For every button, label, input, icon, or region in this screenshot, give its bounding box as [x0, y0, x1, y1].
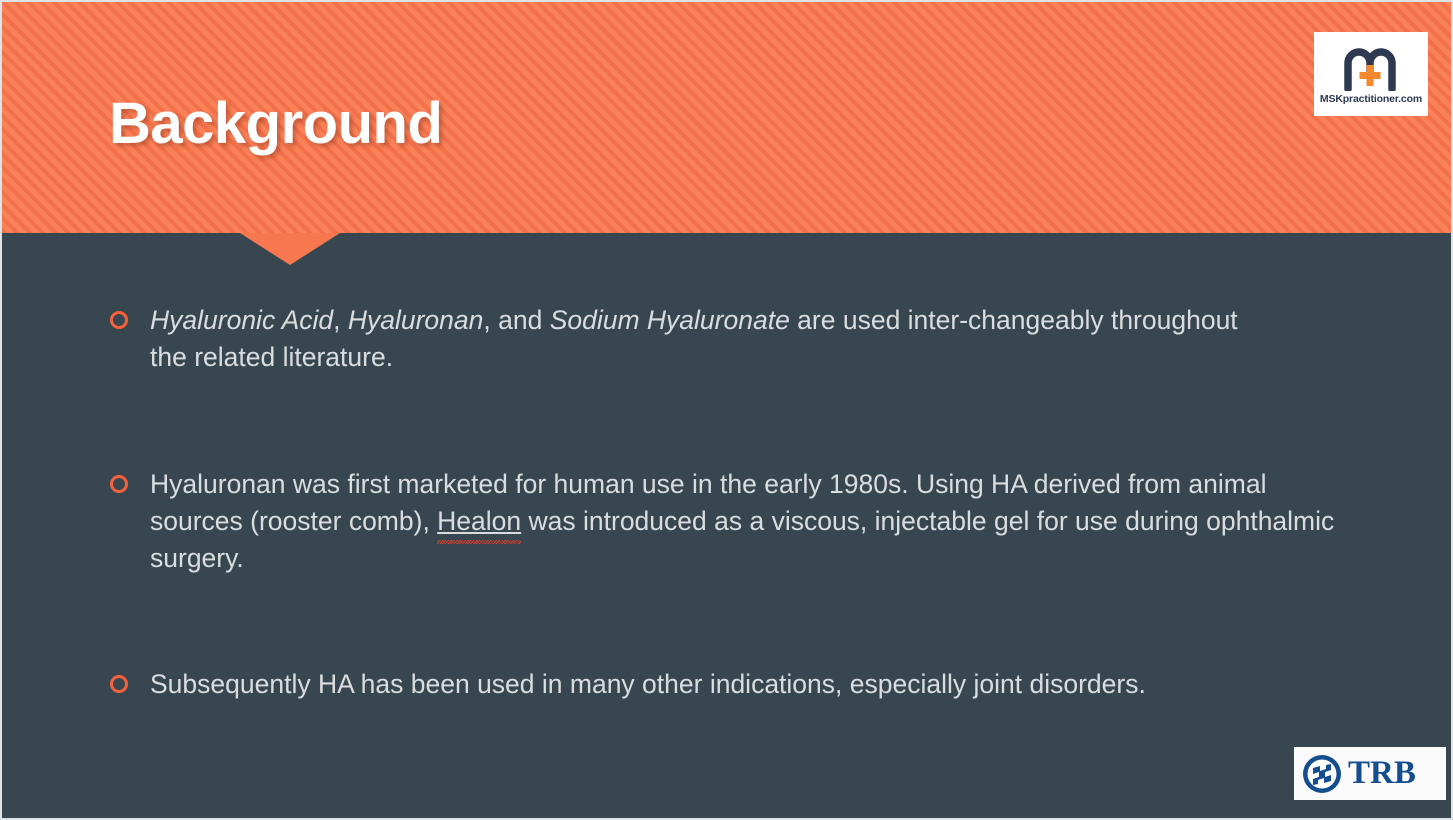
trb-logo: TRB [1294, 747, 1446, 800]
trb-circle-emblem-icon [1300, 752, 1344, 796]
msk-practitioner-logo: MSKpractitioner.com [1314, 32, 1428, 116]
page-title: Background [109, 94, 442, 155]
list-item: Subsequently HA has been used in many ot… [110, 666, 1330, 703]
header-notch-pointer [240, 233, 340, 265]
bullet-marker-icon [110, 675, 128, 693]
spellcheck-flagged-word: Healon [437, 503, 521, 540]
bullet-marker-icon [110, 475, 128, 493]
list-item: Hyaluronan was first marketed for human … [110, 466, 1360, 577]
header-notch-stripes [240, 233, 340, 265]
list-item-text: Hyaluronic Acid, Hyaluronan, and Sodium … [150, 302, 1270, 376]
msk-m-plus-icon [1341, 43, 1401, 91]
msk-logo-wordmark: MSKpractitioner.com [1320, 93, 1422, 105]
list-item: Hyaluronic Acid, Hyaluronan, and Sodium … [110, 302, 1270, 376]
list-item-text: Subsequently HA has been used in many ot… [150, 666, 1330, 703]
presentation-slide: Background MSKpractitioner.com Hyaluroni… [0, 0, 1453, 820]
list-item-text: Hyaluronan was first marketed for human … [150, 466, 1360, 577]
bullet-marker-icon [110, 311, 128, 329]
trb-logo-wordmark: TRB [1348, 757, 1416, 790]
